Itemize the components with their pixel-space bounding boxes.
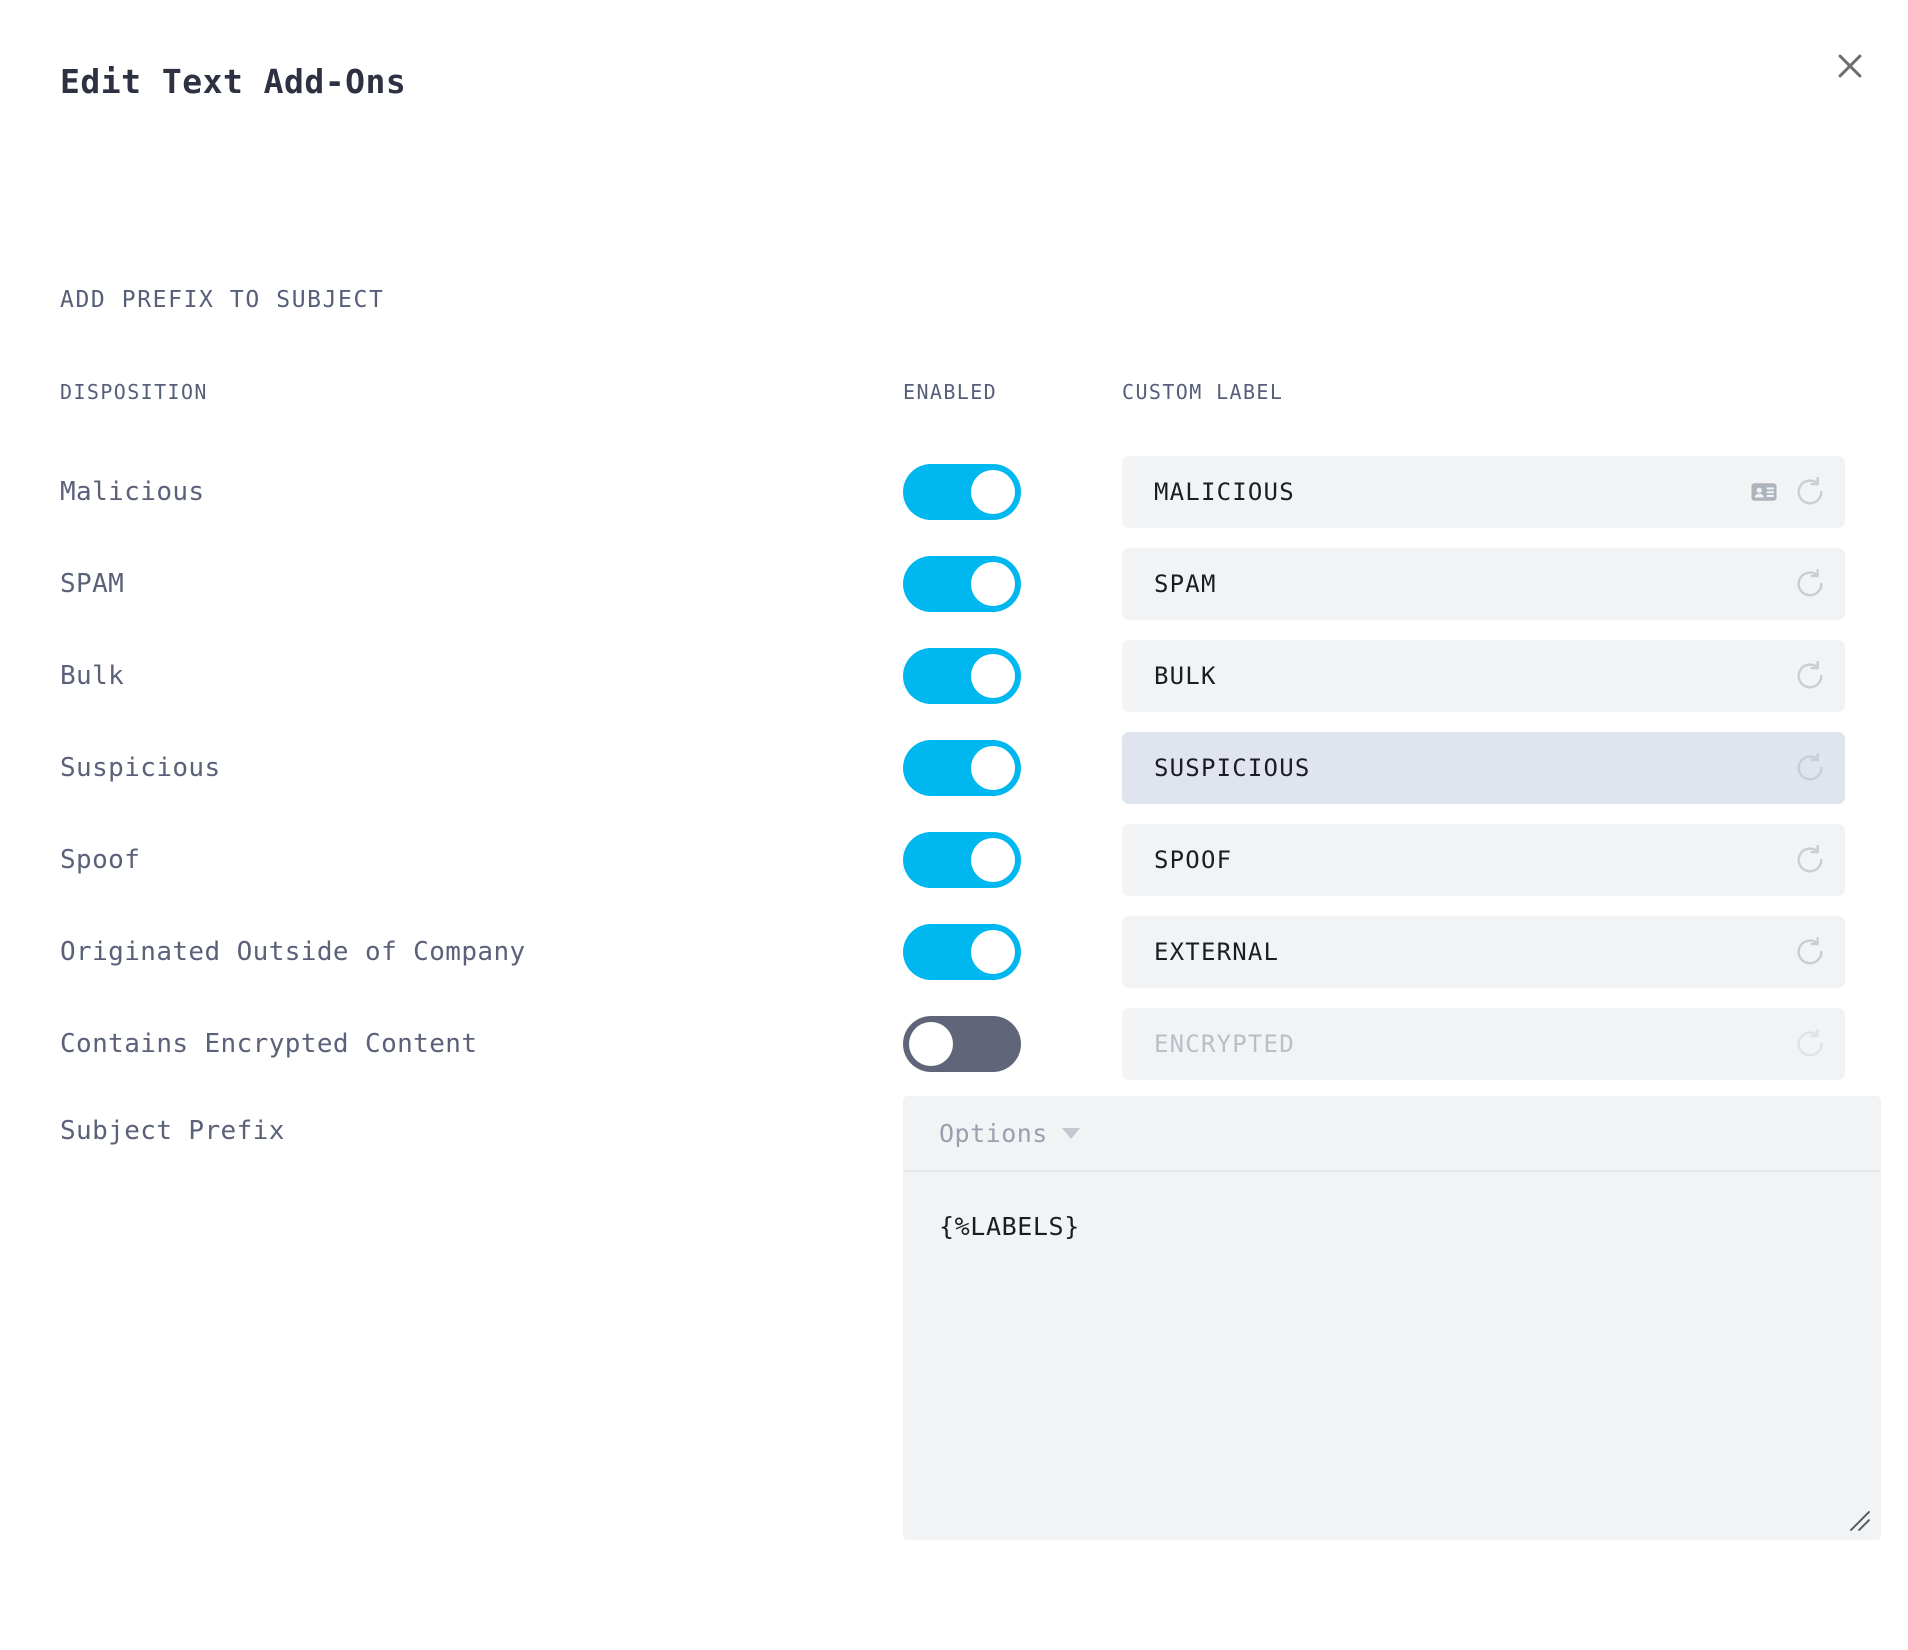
custom-label-icons [1793,659,1827,693]
section-heading-add-prefix: ADD PREFIX TO SUBJECT [60,287,384,313]
reset-icon [1793,1027,1827,1061]
table-row: MaliciousMALICIOUS [0,446,1908,538]
custom-label-value: EXTERNAL [1154,938,1793,966]
table-column-headers: DISPOSITION ENABLED CUSTOM LABEL [0,380,1908,424]
page-title: Edit Text Add-Ons [60,62,406,101]
subject-prefix-textarea[interactable]: {%LABELS} [903,1172,1881,1540]
enabled-toggle[interactable] [903,1016,1021,1072]
custom-label-icons [1793,751,1827,785]
options-dropdown-label: Options [939,1119,1048,1148]
custom-label-input[interactable]: BULK [1122,640,1845,712]
disposition-label: Malicious [60,477,204,507]
options-dropdown[interactable]: Options [939,1119,1080,1148]
enabled-toggle-cell [903,832,1021,888]
custom-label-value: SPOOF [1154,846,1793,874]
reset-icon[interactable] [1793,843,1827,877]
table-row: SuspiciousSUSPICIOUS [0,722,1908,814]
toggle-knob [971,470,1015,514]
enabled-toggle-cell [903,556,1021,612]
reset-icon[interactable] [1793,567,1827,601]
enabled-toggle[interactable] [903,832,1021,888]
custom-label-icons [1793,1027,1827,1061]
toggle-knob [971,746,1015,790]
subject-prefix-value: {%LABELS} [939,1212,1881,1241]
custom-label-icons [1793,935,1827,969]
custom-label-input[interactable]: SPAM [1122,548,1845,620]
custom-label-value: MALICIOUS [1154,478,1749,506]
disposition-label: Suspicious [60,753,221,783]
column-header-enabled: ENABLED [903,380,997,404]
enabled-toggle-cell [903,740,1021,796]
disposition-label: SPAM [60,569,124,599]
id-card-icon[interactable] [1749,477,1779,507]
table-row: BulkBULK [0,630,1908,722]
enabled-toggle[interactable] [903,464,1021,520]
custom-label-input[interactable]: SPOOF [1122,824,1845,896]
toggle-knob [971,654,1015,698]
subject-prefix-editor: Options {%LABELS} [903,1096,1881,1540]
custom-label-value: SPAM [1154,570,1793,598]
enabled-toggle-cell [903,648,1021,704]
table-row: Contains Encrypted ContentENCRYPTED [0,998,1908,1090]
custom-label-icons [1749,475,1827,509]
toggle-knob [971,930,1015,974]
enabled-toggle-cell [903,464,1021,520]
toggle-knob [909,1022,953,1066]
enabled-toggle[interactable] [903,924,1021,980]
enabled-toggle-cell [903,924,1021,980]
enabled-toggle[interactable] [903,648,1021,704]
close-button[interactable] [1824,40,1876,92]
reset-icon[interactable] [1793,475,1827,509]
custom-label-input: ENCRYPTED [1122,1008,1845,1080]
custom-label-input[interactable]: SUSPICIOUS [1122,732,1845,804]
disposition-label: Contains Encrypted Content [60,1029,477,1059]
resize-handle-icon[interactable] [1847,1508,1873,1534]
toggle-knob [971,838,1015,882]
enabled-toggle[interactable] [903,740,1021,796]
chevron-down-icon [1062,1128,1080,1139]
table-row: Originated Outside of CompanyEXTERNAL [0,906,1908,998]
reset-icon[interactable] [1793,751,1827,785]
custom-label-value: BULK [1154,662,1793,690]
custom-label-icons [1793,843,1827,877]
column-header-custom-label: CUSTOM LABEL [1122,380,1283,404]
enabled-toggle-cell [903,1016,1021,1072]
subject-prefix-label: Subject Prefix [60,1116,285,1146]
table-row: SPAMSPAM [0,538,1908,630]
table-row: SpoofSPOOF [0,814,1908,906]
custom-label-input[interactable]: EXTERNAL [1122,916,1845,988]
disposition-label: Originated Outside of Company [60,937,526,967]
table-rows: MaliciousMALICIOUSSPAMSPAMBulkBULKSuspic… [0,446,1908,1090]
disposition-table: DISPOSITION ENABLED CUSTOM LABEL Malicio… [0,380,1908,1090]
custom-label-value: SUSPICIOUS [1154,754,1793,782]
disposition-label: Spoof [60,845,140,875]
custom-label-icons [1793,567,1827,601]
custom-label-value: ENCRYPTED [1154,1030,1793,1058]
toggle-knob [971,562,1015,606]
editor-toolbar: Options [903,1096,1881,1172]
disposition-label: Bulk [60,661,124,691]
custom-label-input[interactable]: MALICIOUS [1122,456,1845,528]
close-icon [1833,49,1867,83]
enabled-toggle[interactable] [903,556,1021,612]
column-header-disposition: DISPOSITION [60,380,208,404]
reset-icon[interactable] [1793,935,1827,969]
reset-icon[interactable] [1793,659,1827,693]
